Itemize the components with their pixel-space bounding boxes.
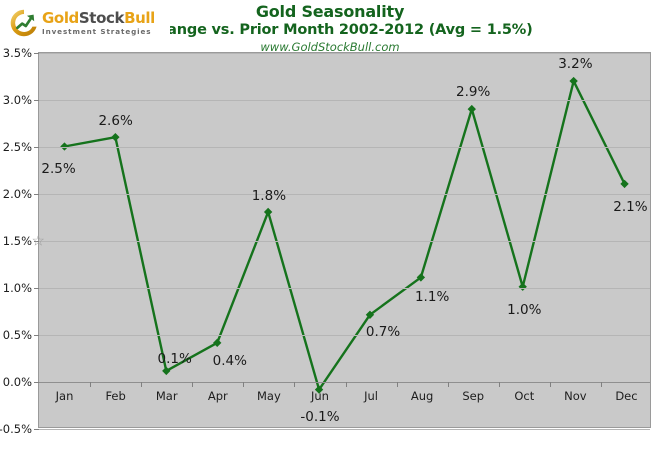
data-label-jul: 0.7% — [366, 324, 400, 340]
x-axis-label-aug: Aug — [411, 389, 433, 403]
x-axis-label-sep: Sep — [462, 389, 484, 403]
x-axis-tick — [499, 382, 500, 387]
y-axis-label: 1.5% — [3, 234, 32, 248]
gold-seasonality-chart: Gold Seasonality % Change vs. Prior Mont… — [0, 0, 660, 449]
x-axis-tick — [346, 382, 347, 387]
y-axis-tick — [34, 429, 39, 430]
data-label-oct: 1.0% — [507, 302, 541, 318]
gridline--0-5 — [39, 429, 650, 430]
data-label-sep: 2.9% — [456, 84, 490, 100]
y-axis-label: 0.0% — [3, 375, 32, 389]
x-axis-label-apr: Apr — [208, 389, 228, 403]
y-axis-tick — [34, 194, 39, 195]
data-label-feb: 2.6% — [98, 113, 132, 129]
x-axis-tick — [397, 382, 398, 387]
y-axis-tick — [34, 335, 39, 336]
y-axis-label: 3.0% — [3, 93, 32, 107]
data-label-aug: 1.1% — [415, 289, 449, 305]
gridline-0-5 — [39, 335, 650, 336]
data-point-may[interactable] — [264, 208, 272, 216]
gridline-1 — [39, 288, 650, 289]
data-label-nov: 3.2% — [558, 56, 592, 72]
data-point-oct[interactable] — [519, 283, 527, 291]
x-axis-label-feb: Feb — [105, 389, 125, 403]
data-label-apr: 0.4% — [213, 353, 247, 369]
logo-word-stock: Stock — [79, 9, 124, 27]
logo-wordmark: GoldStockBull Investment Strategies — [42, 11, 155, 35]
gridline-1-5 — [39, 241, 650, 242]
data-label-jan: 2.5% — [41, 161, 75, 177]
x-axis-label-mar: Mar — [156, 389, 178, 403]
plot-area: 3.5%3.0%2.5%2.0%1.5%1.0%0.5%0.0%-0.5%☆Ja… — [38, 52, 651, 428]
logo-word-gold: Gold — [42, 9, 79, 27]
x-axis-label-jun: Jun — [311, 389, 329, 403]
gridline-3 — [39, 100, 650, 101]
gridline-2 — [39, 194, 650, 195]
average-star-marker: ☆ — [32, 234, 45, 249]
x-axis-label-jul: Jul — [364, 389, 378, 403]
y-axis-label: -0.5% — [0, 422, 32, 436]
gridline-3-5 — [39, 53, 650, 54]
series-line — [39, 53, 650, 427]
y-axis-label: 1.0% — [3, 281, 32, 295]
y-axis-label: 3.5% — [3, 46, 32, 60]
y-axis-label: 0.5% — [3, 328, 32, 342]
y-axis-tick — [34, 147, 39, 148]
x-axis-label-jan: Jan — [56, 389, 74, 403]
data-point-nov[interactable] — [569, 77, 577, 85]
series-polyline — [64, 81, 624, 390]
data-label-mar: 0.1% — [158, 351, 192, 367]
y-axis-label: 2.5% — [3, 140, 32, 154]
data-point-feb[interactable] — [111, 133, 119, 141]
x-axis-tick — [141, 382, 142, 387]
data-label-jun: -0.1% — [300, 409, 339, 425]
data-point-dec[interactable] — [620, 180, 628, 188]
gold-stock-bull-logo[interactable]: GoldStockBull Investment Strategies — [6, 5, 170, 41]
x-axis-label-oct: Oct — [514, 389, 534, 403]
logo-words: GoldStockBull — [42, 11, 155, 26]
data-label-dec: 2.1% — [613, 199, 647, 215]
y-axis-tick — [34, 288, 39, 289]
y-axis-tick — [34, 53, 39, 54]
x-axis-tick — [550, 382, 551, 387]
x-axis-tick — [192, 382, 193, 387]
gridline-2-5 — [39, 147, 650, 148]
y-axis-label: 2.0% — [3, 187, 32, 201]
data-point-sep[interactable] — [468, 105, 476, 113]
gridline-0 — [39, 382, 650, 383]
x-axis-tick — [243, 382, 244, 387]
y-axis-tick — [34, 382, 39, 383]
x-axis-tick — [294, 382, 295, 387]
x-axis-label-may: May — [257, 389, 281, 403]
x-axis-label-dec: Dec — [615, 389, 637, 403]
x-axis-tick — [90, 382, 91, 387]
x-axis-tick — [601, 382, 602, 387]
logo-circle-arrow-icon — [9, 8, 39, 38]
x-axis-label-nov: Nov — [564, 389, 586, 403]
logo-word-bull: Bull — [124, 9, 155, 27]
y-axis-tick — [34, 100, 39, 101]
data-label-may: 1.8% — [252, 188, 286, 204]
logo-tagline: Investment Strategies — [42, 28, 155, 35]
x-axis-tick — [448, 382, 449, 387]
